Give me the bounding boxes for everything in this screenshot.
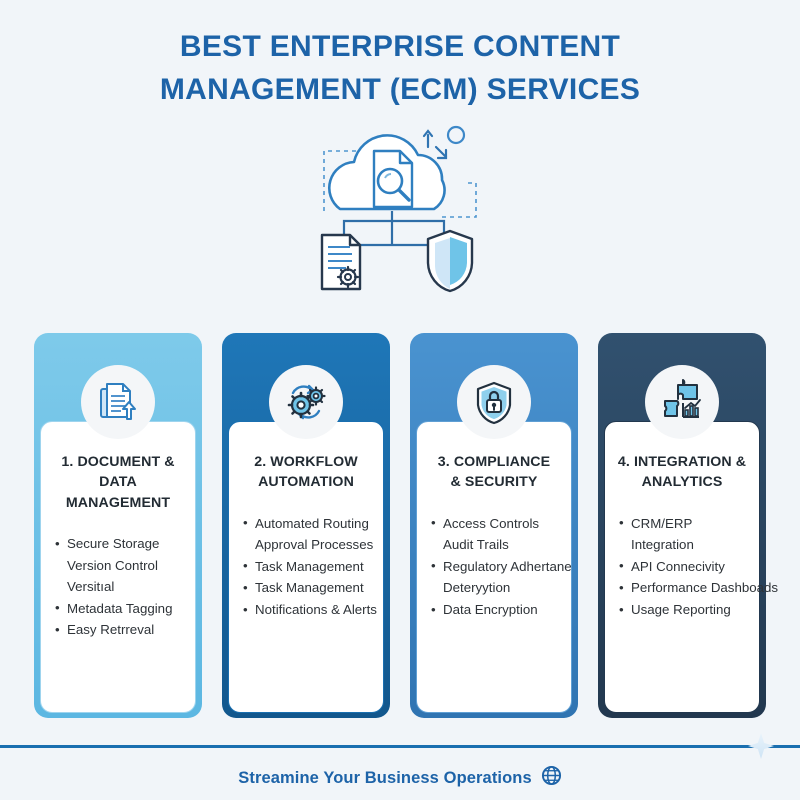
list-item: Regulatory Adhertane <box>431 556 560 578</box>
card-title: 1. DOCUMENT & DATA MANAGEMENT <box>52 452 184 513</box>
documents-upload-icon <box>81 365 155 439</box>
card-panel: 1. DOCUMENT & DATA MANAGEMENT Secure Sto… <box>40 421 196 713</box>
list-item: Integration <box>619 534 748 556</box>
list-item: Notifications & Alerts <box>243 599 372 621</box>
list-item: Metadata Tagging <box>55 598 184 620</box>
list-item: Data Encryption <box>431 599 560 621</box>
gears-refresh-icon <box>269 365 343 439</box>
list-item: Task Management <box>243 577 372 599</box>
card-panel: 2. WORKFLOW AUTOMATION Automated Routing… <box>228 421 384 713</box>
cloud-document-search-illustration <box>0 117 800 307</box>
footer: Streamine Your Business Operations <box>0 756 800 800</box>
service-cards: 1. DOCUMENT & DATA MANAGEMENT Secure Sto… <box>34 333 766 718</box>
footer-text: Streamine Your Business Operations <box>238 769 531 788</box>
title-line-1: BEST ENTERPRISE CONTENT <box>0 26 800 69</box>
list-item: Task Management <box>243 556 372 578</box>
list-item: Version Control <box>55 555 184 577</box>
card-document-data-management[interactable]: 1. DOCUMENT & DATA MANAGEMENT Secure Sto… <box>34 333 202 718</box>
list-item: Automated Routing <box>243 513 372 535</box>
list-item: Access Controls <box>431 513 560 535</box>
card-bullets: CRM/ERP Integration API Connecivity Perf… <box>616 513 748 621</box>
list-item: Performance Dashboads <box>619 577 748 599</box>
list-item: Audit Trails <box>431 534 560 556</box>
footer-divider <box>0 745 800 748</box>
card-workflow-automation[interactable]: 2. WORKFLOW AUTOMATION Automated Routing… <box>222 333 390 718</box>
card-panel: 3. COMPLIANCE & SECURITY Access Controls… <box>416 421 572 713</box>
card-title: 4. INTEGRATION & ANALYTICS <box>616 452 748 493</box>
list-item: Secure Storage <box>55 533 184 555</box>
card-compliance-security[interactable]: 3. COMPLIANCE & SECURITY Access Controls… <box>410 333 578 718</box>
shield-lock-icon <box>457 365 531 439</box>
list-item: Versitıal <box>55 576 184 598</box>
list-item: Deteryytion <box>431 577 560 599</box>
document-magnifier-icon <box>374 151 412 207</box>
card-bullets: Secure Storage Version Control Versitıal… <box>52 533 184 641</box>
list-item: Usage Reporting <box>619 599 748 621</box>
card-title: 2. WORKFLOW AUTOMATION <box>240 452 372 493</box>
list-item: API Connecivity <box>619 556 748 578</box>
puzzle-chart-icon <box>645 365 719 439</box>
card-panel: 4. INTEGRATION & ANALYTICS CRM/ERP Integ… <box>604 421 760 713</box>
page-title: BEST ENTERPRISE CONTENT MANAGEMENT (ECM)… <box>0 0 800 111</box>
list-item: Approval Processes <box>243 534 372 556</box>
title-line-2: MANAGEMENT (ECM) SERVICES <box>0 69 800 112</box>
list-item: Easy Retrreval <box>55 619 184 641</box>
card-integration-analytics[interactable]: 4. INTEGRATION & ANALYTICS CRM/ERP Integ… <box>598 333 766 718</box>
document-gear-icon <box>322 235 360 289</box>
circle-marker <box>448 127 464 143</box>
card-title: 3. COMPLIANCE & SECURITY <box>428 452 560 493</box>
list-item: CRM/ERP <box>619 513 748 535</box>
card-bullets: Access Controls Audit Trails Regulatory … <box>428 513 560 621</box>
globe-icon <box>541 765 562 791</box>
arrow-markers <box>424 131 446 158</box>
shield-icon <box>428 231 472 291</box>
card-bullets: Automated Routing Approval Processes Tas… <box>240 513 372 621</box>
